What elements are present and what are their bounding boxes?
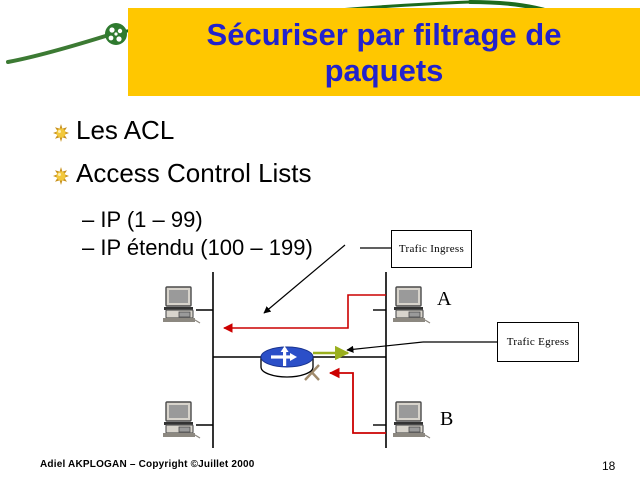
- pc-workstation-icon: [390, 283, 434, 327]
- callout-label: Trafic Ingress: [399, 243, 464, 255]
- denied-flow-from-a: [224, 295, 386, 328]
- ingress-leader: [264, 245, 391, 313]
- footer-credit: Adiel AKPLOGAN – Copyright ©Juillet 2000: [40, 459, 254, 470]
- pc-workstation-icon: [390, 398, 434, 442]
- denied-flow-from-b: [330, 373, 386, 433]
- pc-workstation-icon: [160, 398, 204, 442]
- router-icon: [257, 343, 317, 379]
- slide-canvas: Sécuriser par filtrage de paquets Les AC…: [0, 0, 640, 480]
- footer-page-number: 18: [602, 459, 615, 473]
- callout-label: Trafic Egress: [507, 336, 569, 348]
- callout-trafic-ingress: Trafic Ingress: [391, 230, 472, 268]
- pc-workstation-icon: [160, 283, 204, 327]
- host-label-a: A: [437, 288, 451, 311]
- egress-leader: [347, 342, 497, 350]
- host-label-b: B: [440, 408, 453, 431]
- callout-trafic-egress: Trafic Egress: [497, 322, 579, 362]
- network-diagram: [0, 0, 640, 480]
